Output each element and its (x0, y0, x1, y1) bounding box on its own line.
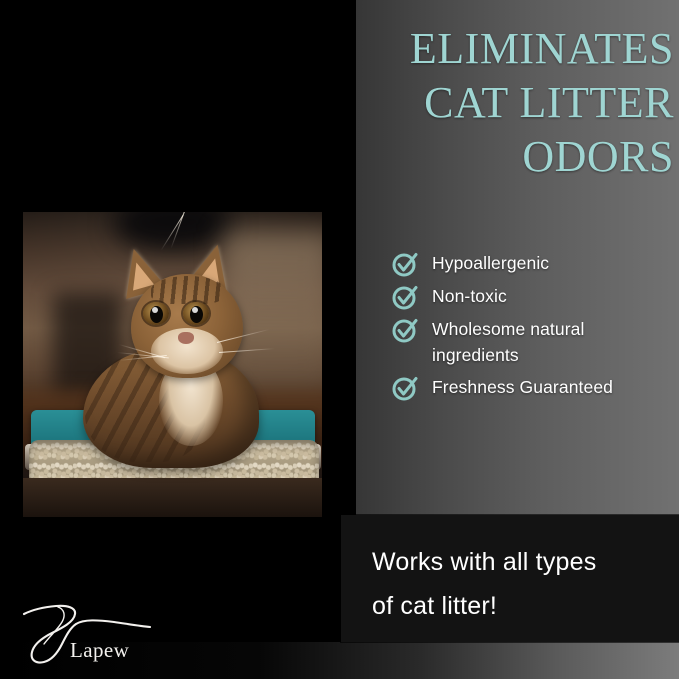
list-item: Wholesome natural ingredients (392, 316, 672, 368)
list-item-label: Non-toxic (432, 283, 507, 309)
callout-line-2: of cat litter! (372, 584, 667, 628)
list-item-label: Wholesome natural ingredients (432, 316, 672, 368)
list-item-label: Freshness Guaranteed (432, 374, 613, 400)
kitten-eye-glint-right (192, 307, 198, 313)
photo-floor-foreground (23, 478, 322, 517)
list-item-label: Hypoallergenic (432, 250, 549, 276)
list-item: Hypoallergenic (392, 250, 672, 277)
callout-text: Works with all types of cat litter! (372, 540, 667, 628)
kitten (75, 240, 275, 472)
headline-line-1: ELIMINATES (290, 22, 674, 76)
product-poster: ELIMINATES CAT LITTER ODORS (0, 0, 679, 679)
kitten-forehead-stripes (151, 276, 225, 304)
callout-box: Works with all types of cat litter! (341, 515, 679, 642)
kitten-eye-glint-left (152, 307, 158, 313)
list-item: Non-toxic (392, 283, 672, 310)
check-circle-icon (392, 251, 418, 277)
feature-list: Hypoallergenic Non-toxic Wholesome natur… (392, 250, 672, 407)
list-item: Freshness Guaranteed (392, 374, 672, 401)
kitten-litter-box-photo (23, 212, 322, 517)
check-circle-icon (392, 284, 418, 310)
headline-line-3: ODORS (290, 130, 674, 184)
headline: ELIMINATES CAT LITTER ODORS (290, 22, 674, 184)
headline-line-2: CAT LITTER (290, 76, 674, 130)
callout-line-1: Works with all types (372, 540, 667, 584)
check-circle-icon (392, 317, 418, 343)
check-circle-icon (392, 375, 418, 401)
kitten-nose (178, 332, 194, 344)
brand-wordmark: Lapew (70, 638, 129, 663)
brand-logo: Lapew (18, 600, 158, 670)
